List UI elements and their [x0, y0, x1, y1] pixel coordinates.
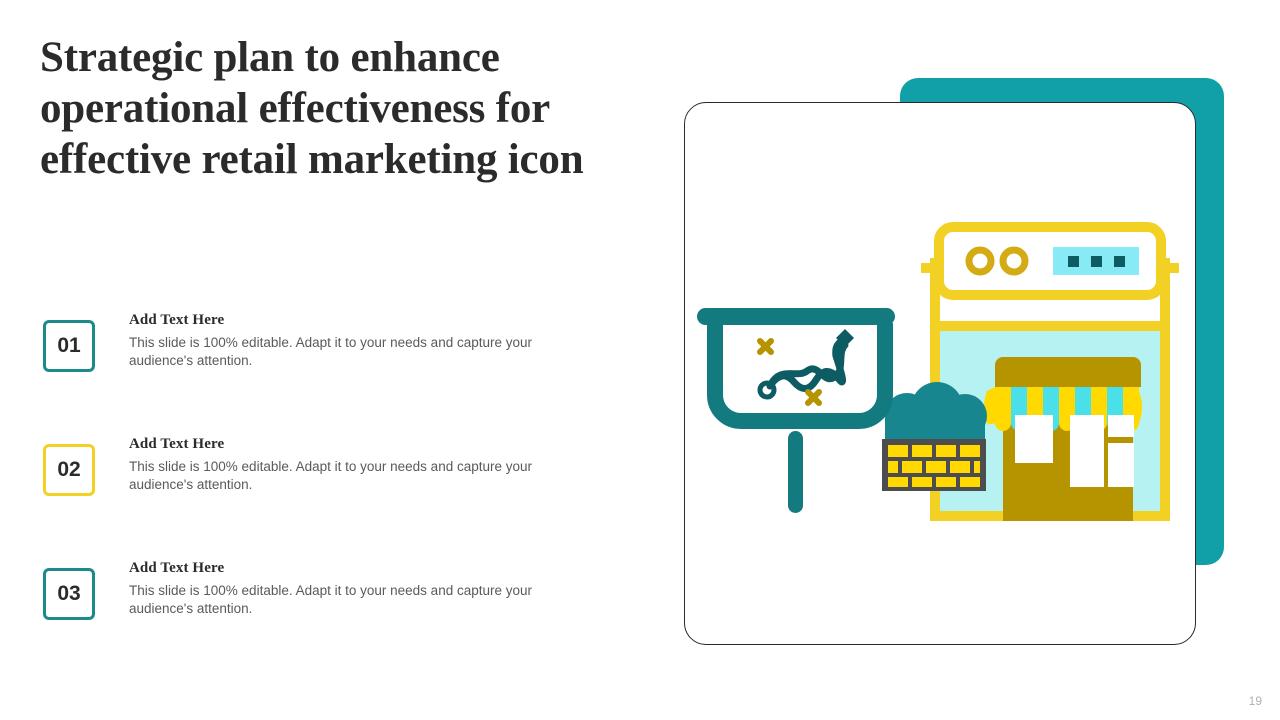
- list-item-description: This slide is 100% editable. Adapt it to…: [129, 582, 574, 618]
- route-x-marker-2: [808, 392, 819, 403]
- shop-window-left: [1015, 415, 1053, 463]
- slide-root: Strategic plan to enhance operational ef…: [0, 0, 1280, 720]
- list-item-description: This slide is 100% editable. Adapt it to…: [129, 334, 574, 370]
- number-badge-label: 01: [46, 323, 92, 369]
- shop-awning-header: [995, 357, 1141, 387]
- shop-door: [1070, 415, 1104, 487]
- number-badge-01: 01: [43, 320, 95, 372]
- page-title: Strategic plan to enhance operational ef…: [40, 32, 585, 185]
- list-item-description: This slide is 100% editable. Adapt it to…: [129, 458, 574, 494]
- list-item[interactable]: 03 Add Text Here This slide is 100% edit…: [40, 560, 580, 684]
- storefront-frame-right: [1160, 258, 1170, 521]
- number-badge-label: 03: [46, 571, 92, 617]
- sign-text-dot-2: [1091, 256, 1102, 267]
- retail-strategy-illustration: [685, 103, 1196, 645]
- list-item-body: Add Text Here This slide is 100% editabl…: [129, 436, 579, 494]
- sign-text-dot-1: [1068, 256, 1079, 267]
- list-item-body: Add Text Here This slide is 100% editabl…: [129, 560, 579, 618]
- illustration-area: [684, 78, 1224, 648]
- page-number: 19: [1249, 694, 1262, 708]
- number-badge-label: 02: [46, 447, 92, 493]
- shop-sign-board: [921, 227, 1179, 295]
- number-badge-02: 02: [43, 444, 95, 496]
- presentation-board-group: [697, 308, 895, 513]
- route-start-marker: [760, 383, 774, 397]
- list-item-heading: Add Text Here: [129, 560, 579, 577]
- list-item-body: Add Text Here This slide is 100% editabl…: [129, 312, 579, 370]
- bullet-list: 01 Add Text Here This slide is 100% edit…: [40, 312, 580, 684]
- route-x-marker-1: [760, 341, 771, 352]
- sign-text-dot-3: [1114, 256, 1125, 267]
- shop-window-right-upper: [1108, 415, 1134, 437]
- storefront-frame-header-bottom: [930, 321, 1170, 331]
- list-item-heading: Add Text Here: [129, 312, 579, 329]
- presentation-board-top-rail: [697, 308, 895, 325]
- front-card-panel: [684, 102, 1196, 645]
- presentation-board-pole: [788, 431, 803, 513]
- list-item-heading: Add Text Here: [129, 436, 579, 453]
- number-badge-03: 03: [43, 568, 95, 620]
- list-item[interactable]: 02 Add Text Here This slide is 100% edit…: [40, 436, 580, 560]
- route-path-line: [770, 340, 846, 389]
- brick-planter-with-bush: [882, 382, 987, 491]
- shop-window-right-lower: [1108, 443, 1134, 487]
- list-item[interactable]: 01 Add Text Here This slide is 100% edit…: [40, 312, 580, 436]
